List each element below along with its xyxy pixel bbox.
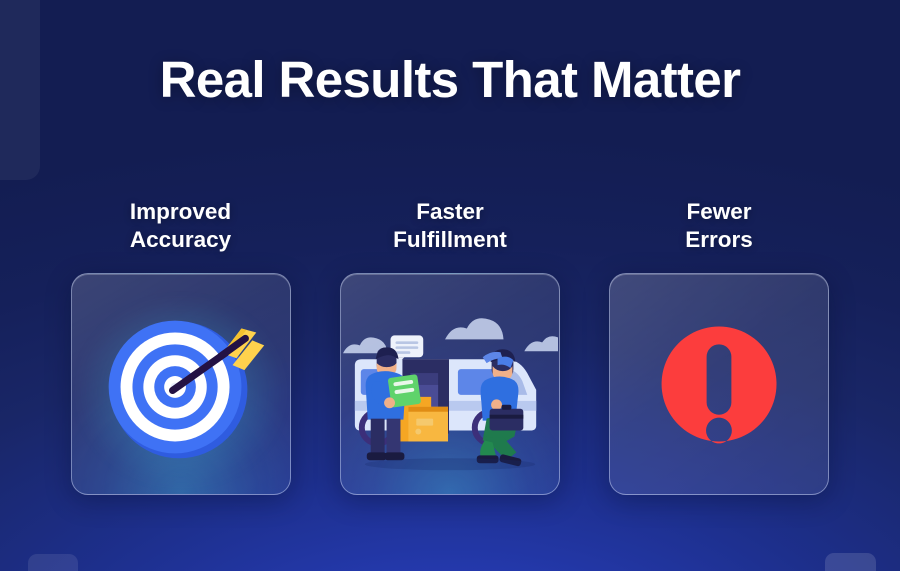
benefit-column-faster-fulfillment: Faster Fulfillment xyxy=(340,198,560,495)
benefit-heading-improved-accuracy: Improved Accuracy xyxy=(130,198,231,255)
offscreen-chip-bottom-right xyxy=(825,553,876,571)
benefit-heading-fewer-errors: Fewer Errors xyxy=(685,198,753,255)
benefits-row: Improved Accuracy xyxy=(71,198,829,495)
error-alert-exclamation-icon xyxy=(610,274,828,494)
benefit-heading-faster-fulfillment: Faster Fulfillment xyxy=(393,198,507,255)
benefit-card-faster-fulfillment[interactable] xyxy=(340,273,560,495)
slide-canvas: Real Results That Matter Improved Accura… xyxy=(0,0,900,571)
target-bullseye-with-arrow-icon xyxy=(72,274,290,494)
benefit-column-improved-accuracy: Improved Accuracy xyxy=(71,198,291,495)
offscreen-chip-bottom-left xyxy=(28,554,78,571)
delivery-van-with-couriers-icon xyxy=(341,274,559,494)
page-title: Real Results That Matter xyxy=(0,52,900,108)
cloud-shapes xyxy=(343,318,558,353)
benefit-card-fewer-errors[interactable] xyxy=(609,273,829,495)
benefit-card-improved-accuracy[interactable] xyxy=(71,273,291,495)
benefit-column-fewer-errors: Fewer Errors xyxy=(609,198,829,495)
